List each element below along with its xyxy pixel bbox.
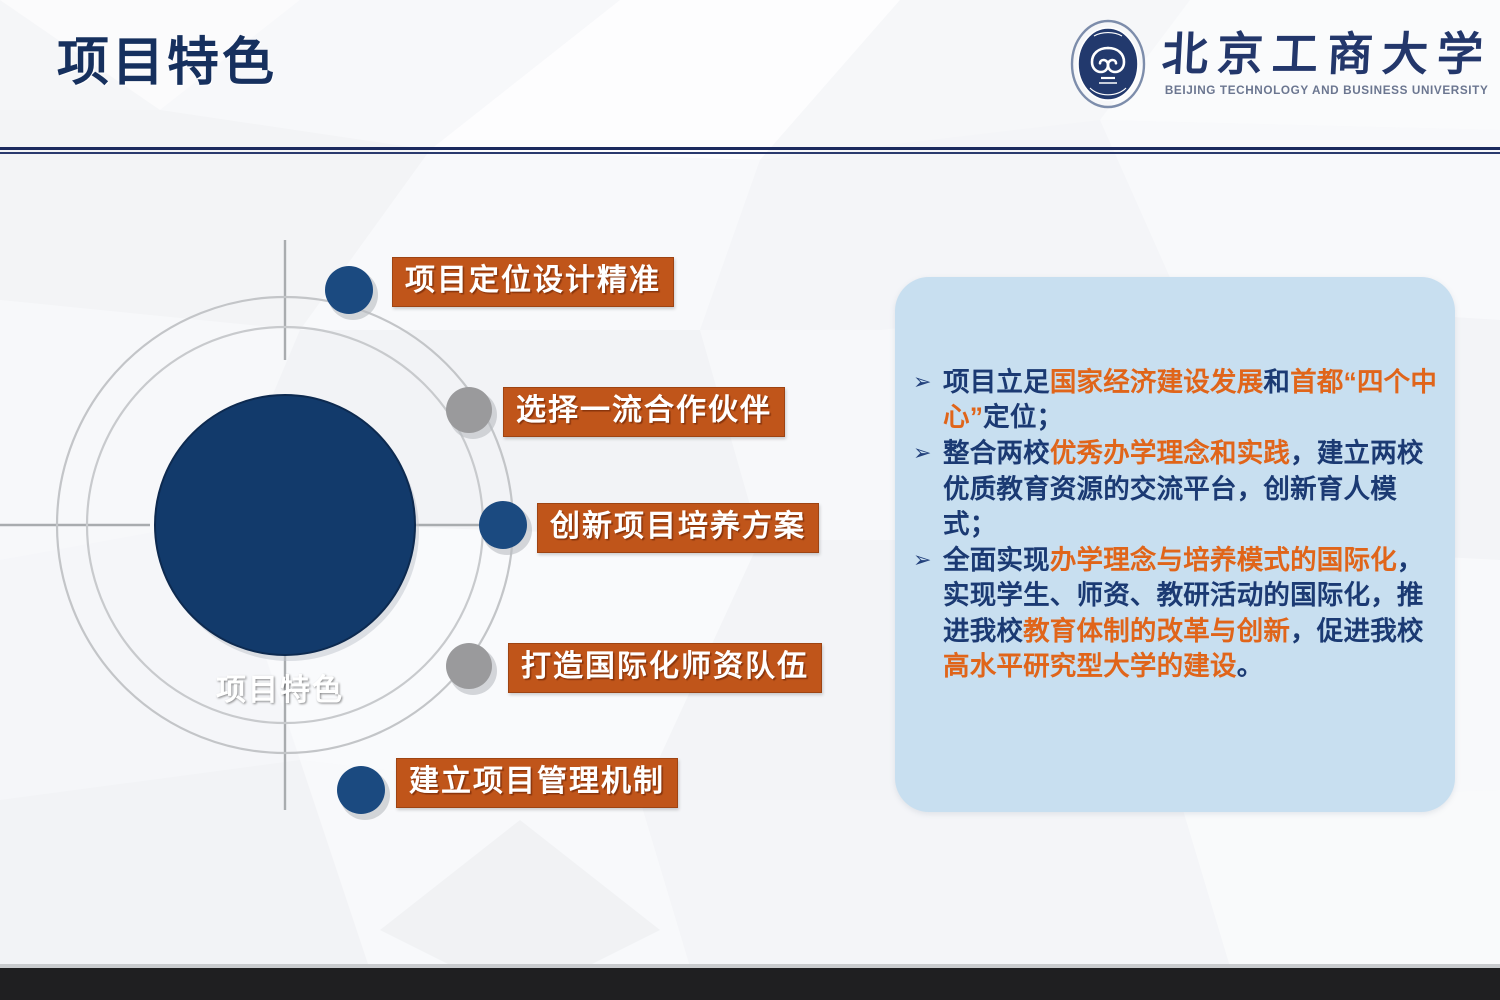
plain-phrase: 和: [1263, 367, 1290, 397]
bullet-arrow-icon: ➢: [913, 365, 943, 398]
plain-phrase: 。: [1237, 651, 1264, 681]
plain-phrase: 全面实现: [943, 545, 1050, 575]
node-dot-5: [337, 766, 385, 814]
node-dot-1: [325, 266, 373, 314]
highlighted-phrase: 优秀办学理念和实践: [1050, 438, 1290, 468]
diagram-label-5[interactable]: 建立项目管理机制: [396, 758, 678, 808]
highlighted-phrase: 高水平研究型大学的建设: [943, 651, 1237, 681]
diagram-label-4[interactable]: 打造国际化师资队伍: [508, 643, 822, 693]
logo-name-cn: 北京工商大学: [1161, 31, 1494, 79]
info-bullet: ➢全面实现办学理念与培养模式的国际化，实现学生、师资、教研活动的国际化，推进我校…: [913, 543, 1441, 684]
diagram-label-3[interactable]: 创新项目培养方案: [537, 503, 819, 553]
diagram-label-1[interactable]: 项目定位设计精准: [392, 257, 674, 307]
info-bullet-text: 项目立足国家经济建设发展和首都“四个中心”定位；: [943, 365, 1441, 435]
header-divider-line-secondary: [0, 152, 1500, 154]
university-logo: 北京工商大学 BEIJING TECHNOLOGY AND BUSINESS U…: [1068, 18, 1492, 110]
node-dot-4: [446, 643, 492, 689]
logo-name-en: BEIJING TECHNOLOGY AND BUSINESS UNIVERSI…: [1165, 85, 1489, 97]
university-seal-emblem: [1068, 18, 1148, 110]
highlighted-phrase: 教育体制的改革与创新: [1023, 616, 1290, 646]
node-dot-3: [479, 501, 527, 549]
bullet-arrow-icon: ➢: [913, 543, 943, 576]
diagram-label-2[interactable]: 选择一流合作伙伴: [503, 387, 785, 437]
info-bullet: ➢项目立足国家经济建设发展和首都“四个中心”定位；: [913, 365, 1441, 435]
info-bullet-text: 全面实现办学理念与培养模式的国际化，实现学生、师资、教研活动的国际化，推进我校教…: [943, 543, 1441, 684]
logo-wordmark: 北京工商大学 BEIJING TECHNOLOGY AND BUSINESS U…: [1162, 31, 1492, 96]
info-bullet: ➢整合两校优秀办学理念和实践，建立两校优质教育资源的交流平台，创新育人模式；: [913, 436, 1441, 542]
highlighted-phrase: 办学理念与培养模式的国际化: [1050, 545, 1397, 575]
node-dot-2: [446, 387, 492, 433]
plain-phrase: 整合两校: [943, 438, 1050, 468]
info-panel: ➢项目立足国家经济建设发展和首都“四个中心”定位；➢整合两校优秀办学理念和实践，…: [895, 277, 1455, 812]
header-divider-line: [0, 147, 1500, 150]
plain-phrase: 项目立足: [943, 367, 1050, 397]
plain-phrase: 定位；: [983, 402, 1063, 432]
plain-phrase: ，促进我校: [1290, 616, 1424, 646]
highlighted-phrase: 国家经济建设发展: [1050, 367, 1264, 397]
info-bullet-text: 整合两校优秀办学理念和实践，建立两校优质教育资源的交流平台，创新育人模式；: [943, 436, 1441, 542]
info-panel-bullets: ➢项目立足国家经济建设发展和首都“四个中心”定位；➢整合两校优秀办学理念和实践，…: [913, 365, 1441, 685]
page-title: 项目特色: [57, 35, 277, 92]
slide-root: 项目特色 北京工商大学 BEIJING TECHNOLOGY AND BUSIN…: [0, 0, 1500, 1000]
bottom-band: [0, 968, 1500, 1000]
bullet-arrow-icon: ➢: [913, 436, 943, 469]
